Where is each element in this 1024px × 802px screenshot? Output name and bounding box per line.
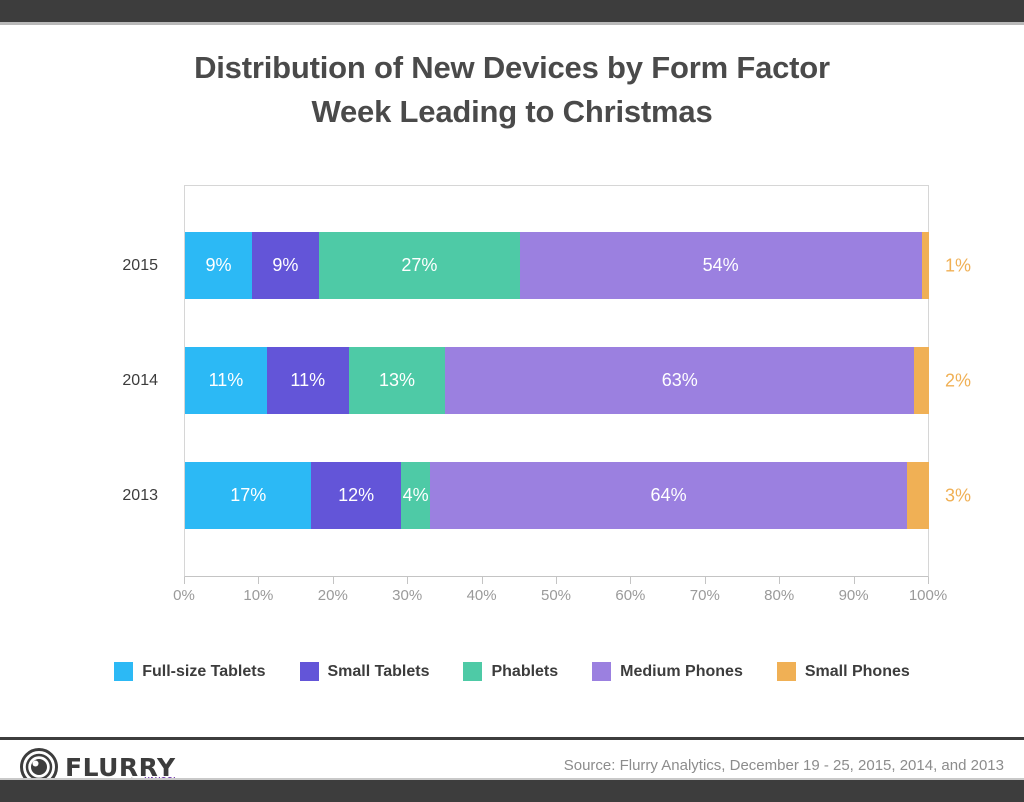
bar-segment-label: 4% [403, 485, 429, 506]
source-note: Source: Flurry Analytics, December 19 - … [564, 757, 1004, 774]
bar-segment-label-outside: 3% [945, 485, 971, 506]
category-label-2014: 2014 [0, 372, 158, 390]
axis-tick [556, 577, 557, 584]
axis-tick [928, 577, 929, 584]
bar-segment-label: 17% [230, 485, 266, 506]
legend-item-small-phones[interactable]: Small Phones [777, 662, 910, 681]
chart-page: Distribution of New Devices by Form Fact… [0, 0, 1024, 802]
legend-label: Small Phones [805, 663, 910, 681]
bar-segment [914, 347, 929, 414]
bar-segment-label: 12% [338, 485, 374, 506]
axis-tick [258, 577, 259, 584]
category-label-2013: 2013 [0, 487, 158, 505]
bottom-rail [0, 780, 1024, 802]
bar-segment-label: 64% [651, 485, 687, 506]
axis-tick-label: 40% [467, 587, 497, 604]
legend-item-medium-phones[interactable]: Medium Phones [592, 662, 743, 681]
legend-swatch-icon [777, 662, 796, 681]
legend-swatch-icon [463, 662, 482, 681]
axis-tick-label: 20% [318, 587, 348, 604]
title-line-2: Week Leading to Christmas [0, 90, 1024, 134]
value-axis: 0%10%20%30%40%50%60%70%80%90%100% [184, 577, 930, 617]
axis-tick [333, 577, 334, 584]
legend-item-phablets[interactable]: Phablets [463, 662, 558, 681]
bar-segment: 9% [185, 232, 252, 299]
title-line-1: Distribution of New Devices by Form Fact… [0, 46, 1024, 90]
page-title: Distribution of New Devices by Form Fact… [0, 46, 1024, 134]
legend-label: Small Tablets [328, 663, 430, 681]
bar-segment: 63% [445, 347, 914, 414]
bar-row: 9%9%27%54% [185, 232, 929, 299]
bar-row: 11%11%13%63% [185, 347, 929, 414]
bar-segment-label: 11% [209, 370, 244, 391]
bar-segment: 13% [349, 347, 446, 414]
axis-tick-label: 90% [839, 587, 869, 604]
legend-label: Phablets [491, 663, 558, 681]
bar-segment: 12% [311, 462, 400, 529]
axis-tick [705, 577, 706, 584]
bar-segment-label: 63% [662, 370, 698, 391]
bar-segment [907, 462, 929, 529]
legend-item-small-tablets[interactable]: Small Tablets [300, 662, 430, 681]
bar-segment: 27% [319, 232, 520, 299]
legend-swatch-icon [592, 662, 611, 681]
bar-segment: 17% [185, 462, 311, 529]
axis-tick [407, 577, 408, 584]
bar-segment: 9% [252, 232, 319, 299]
bar-row: 17%12%4%64% [185, 462, 929, 529]
legend-label: Full-size Tablets [142, 663, 265, 681]
axis-tick [184, 577, 185, 584]
bar-segment: 54% [520, 232, 922, 299]
axis-tick [854, 577, 855, 584]
axis-tick-label: 100% [909, 587, 947, 604]
axis-tick-label: 80% [764, 587, 794, 604]
axis-tick-label: 10% [243, 587, 273, 604]
axis-tick [779, 577, 780, 584]
bar-segment-label: 9% [205, 255, 231, 276]
category-axis: 201520142013 [0, 185, 172, 577]
flurry-wordmark: FLURRY fromYAHOO! [65, 755, 176, 780]
legend-label: Medium Phones [620, 663, 743, 681]
stacked-bars: 1%9%9%27%54%2%11%11%13%63%3%17%12%4%64% [185, 186, 929, 576]
legend-swatch-icon [114, 662, 133, 681]
axis-tick-label: 0% [173, 587, 195, 604]
category-label-2015: 2015 [0, 257, 158, 275]
bar-segment: 64% [430, 462, 906, 529]
footer: FLURRY fromYAHOO! Source: Flurry Analyti… [0, 740, 1024, 780]
bar-segment-label: 27% [401, 255, 437, 276]
axis-tick-label: 60% [615, 587, 645, 604]
legend-swatch-icon [300, 662, 319, 681]
axis-tick-label: 30% [392, 587, 422, 604]
top-rail-divider [0, 22, 1024, 25]
chart-legend: Full-size TabletsSmall TabletsPhabletsMe… [0, 662, 1024, 681]
bar-segment: 11% [267, 347, 349, 414]
axis-tick-label: 70% [690, 587, 720, 604]
bar-segment-label: 13% [379, 370, 415, 391]
bar-segment-label: 11% [290, 370, 325, 391]
bar-segment-label: 54% [703, 255, 739, 276]
bar-segment-label-outside: 1% [945, 255, 971, 276]
bar-segment: 4% [401, 462, 431, 529]
bar-segment-label: 9% [272, 255, 298, 276]
axis-tick-label: 50% [541, 587, 571, 604]
axis-tick [630, 577, 631, 584]
bar-segment-label-outside: 2% [945, 370, 971, 391]
bar-segment: 11% [185, 347, 267, 414]
top-rail [0, 0, 1024, 22]
bar-segment [922, 232, 929, 299]
axis-tick [482, 577, 483, 584]
legend-item-full-size-tablets[interactable]: Full-size Tablets [114, 662, 265, 681]
